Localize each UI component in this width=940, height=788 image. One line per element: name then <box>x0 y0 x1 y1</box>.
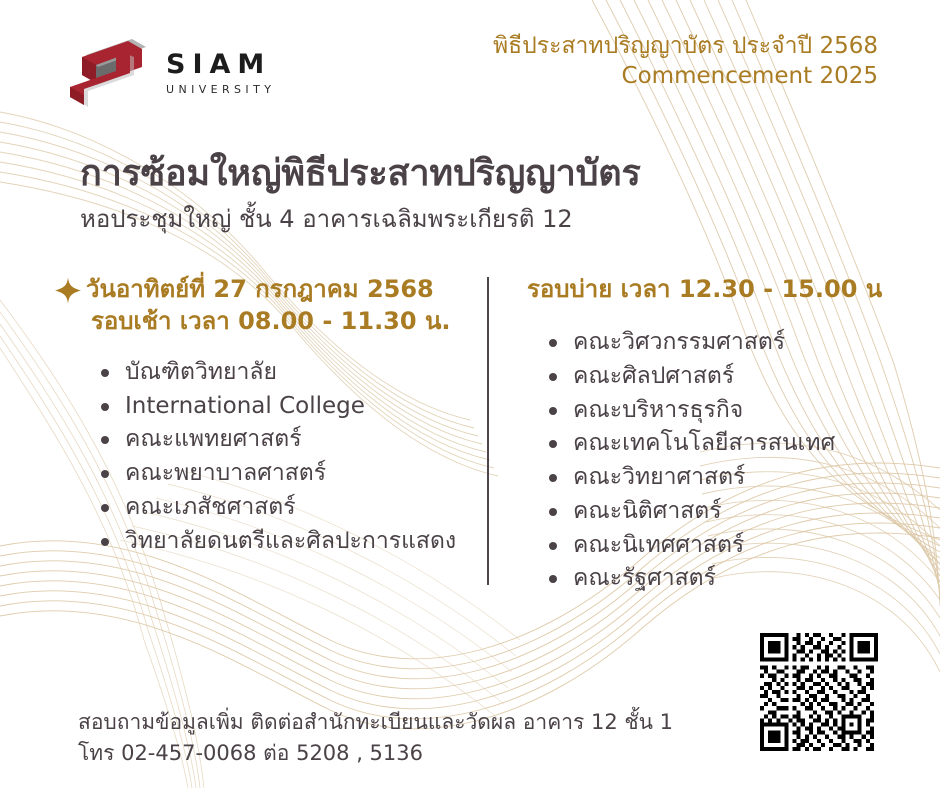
list-item: คณะศิลปศาสตร์ <box>537 360 927 394</box>
list-item: คณะเภสัชศาสตร์ <box>89 491 475 525</box>
session-column-morning: วันอาทิตย์ที่ 27 กรกฎาคม 2568 รอบเช้า เว… <box>55 274 475 559</box>
bullet-icon <box>549 474 557 482</box>
faculty-label: คณะเทคโนโลยีสารสนเทศ <box>573 430 835 456</box>
list-item: คณะรัฐศาสตร์ <box>537 562 927 596</box>
session-column-afternoon: รอบบ่าย เวลา 12.30 - 15.00 น คณะวิศวกรรม… <box>527 274 927 596</box>
footer-line-1: สอบถามข้อมูลเพิ่ม ติดต่อสำนักทะเบียนและว… <box>78 707 673 737</box>
faculty-label: คณะนิเทศศาสตร์ <box>573 532 744 558</box>
faculty-label: คณะวิทยาศาสตร์ <box>573 464 745 490</box>
footer-line-2: โทร 02-457-0068 ต่อ 5208 , 5136 <box>78 738 673 768</box>
column-divider <box>487 277 489 585</box>
session-afternoon-heading: รอบบ่าย เวลา 12.30 - 15.00 น <box>527 274 927 306</box>
bullet-icon <box>549 407 557 415</box>
bullet-icon <box>101 470 109 478</box>
list-item: คณะวิศวกรรมศาสตร์ <box>537 326 927 360</box>
sparkle-star-icon <box>55 277 81 304</box>
list-item: วิทยาลัยดนตรีและศิลปะการแสดง <box>89 525 475 559</box>
bullet-icon <box>101 369 109 377</box>
list-item: บัณฑิตวิทยาลัย <box>89 356 475 390</box>
faculty-label: คณะเภสัชศาสตร์ <box>125 494 296 520</box>
bullet-icon <box>101 538 109 546</box>
list-item: คณะเทคโนโลยีสารสนเทศ <box>537 427 927 461</box>
list-item: คณะบริหารธุรกิจ <box>537 394 927 428</box>
session-morning-time: รอบเช้า เวลา 08.00 - 11.30 น. <box>86 306 450 338</box>
commencement-poster: SIAM UNIVERSITY พิธีประสาทปริญญาบัตร ประ… <box>0 0 940 788</box>
list-item: คณะนิติศาสตร์ <box>537 495 927 529</box>
session-afternoon-heading-lines: รอบบ่าย เวลา 12.30 - 15.00 น <box>527 274 882 306</box>
bullet-icon <box>549 508 557 516</box>
bullet-icon <box>549 339 557 347</box>
siam-university-s-mark-icon <box>62 29 154 117</box>
footer-contact: สอบถามข้อมูลเพิ่ม ติดต่อสำนักทะเบียนและว… <box>78 707 673 768</box>
header-english-line: Commencement 2025 <box>493 62 878 92</box>
faculty-label: คณะบริหารธุรกิจ <box>573 397 743 423</box>
header-thai-line: พิธีประสาทปริญญาบัตร ประจำปี 2568 <box>493 32 878 61</box>
brand-name: SIAM <box>166 51 275 78</box>
venue-subtitle: หอประชุมใหญ่ ชั้น 4 อาคารเฉลิมพระเกียรติ… <box>80 204 641 235</box>
faculty-label: คณะนิติศาสตร์ <box>573 498 722 524</box>
faculty-label: คณะพยาบาลศาสตร์ <box>125 460 326 486</box>
bullet-icon <box>549 575 557 583</box>
session-afternoon-time: รอบบ่าย เวลา 12.30 - 15.00 น <box>527 275 882 303</box>
bullet-icon <box>549 440 557 448</box>
bullet-icon <box>549 373 557 381</box>
faculty-label: International College <box>125 393 365 419</box>
brand-logo: SIAM UNIVERSITY <box>62 28 302 118</box>
brand-subname: UNIVERSITY <box>166 84 275 95</box>
faculty-list-afternoon: คณะวิศวกรรมศาสตร์ คณะศิลปศาสตร์ คณะบริหา… <box>537 326 927 596</box>
faculty-label: บัณฑิตวิทยาลัย <box>125 359 277 385</box>
header-event-title: พิธีประสาทปริญญาบัตร ประจำปี 2568 Commen… <box>493 32 878 92</box>
bullet-icon <box>549 542 557 550</box>
list-item: คณะนิเทศศาสตร์ <box>537 529 927 563</box>
list-item: คณะแพทยศาสตร์ <box>89 423 475 457</box>
brand-wordmark: SIAM UNIVERSITY <box>166 51 275 95</box>
session-morning-heading: วันอาทิตย์ที่ 27 กรกฎาคม 2568 รอบเช้า เว… <box>55 274 475 338</box>
faculty-label: วิทยาลัยดนตรีและศิลปะการแสดง <box>125 528 456 554</box>
list-item: คณะพยาบาลศาสตร์ <box>89 457 475 491</box>
bullet-icon <box>101 504 109 512</box>
session-morning-date: วันอาทิตย์ที่ 27 กรกฎาคม 2568 <box>86 275 434 303</box>
faculty-label: คณะวิศวกรรมศาสตร์ <box>573 329 785 355</box>
faculty-label: คณะแพทยศาสตร์ <box>125 426 302 452</box>
faculty-list-morning: บัณฑิตวิทยาลัย International College คณะ… <box>89 356 475 559</box>
page-title: การซ้อมใหญ่พิธีประสาทปริญญาบัตร <box>80 152 641 196</box>
list-item: คณะวิทยาศาสตร์ <box>537 461 927 495</box>
faculty-label: คณะรัฐศาสตร์ <box>573 565 716 591</box>
list-item: International College <box>89 390 475 424</box>
session-morning-heading-lines: วันอาทิตย์ที่ 27 กรกฎาคม 2568 รอบเช้า เว… <box>86 274 450 338</box>
bullet-icon <box>101 403 109 411</box>
title-block: การซ้อมใหญ่พิธีประสาทปริญญาบัตร หอประชุม… <box>80 152 641 235</box>
qr-code-icon[interactable] <box>760 632 878 752</box>
faculty-label: คณะศิลปศาสตร์ <box>573 363 734 389</box>
bullet-icon <box>101 436 109 444</box>
